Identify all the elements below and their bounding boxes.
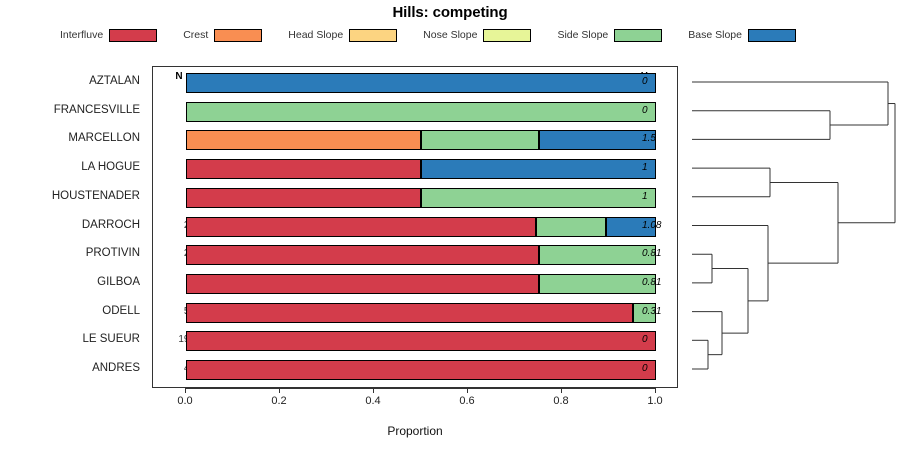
x-axis-tick	[185, 388, 186, 393]
x-axis: 0.00.20.40.60.81.0	[152, 388, 678, 418]
legend-spacer	[662, 35, 688, 36]
plot-panel: N H 301041.54121271.08240.8140.81550.311…	[152, 66, 678, 388]
bar-segment-interfluve	[186, 245, 539, 265]
x-axis-tick-label: 1.0	[635, 395, 675, 407]
bar-segment-base-slope	[539, 130, 657, 150]
legend-label: Head Slope	[288, 29, 343, 41]
row-h-value: 1.08	[642, 220, 676, 231]
row-h-value: 0	[642, 363, 676, 374]
legend-label: Crest	[183, 29, 208, 41]
chart-row: 21	[153, 184, 677, 213]
bar-segment-base-slope	[421, 159, 656, 179]
legend-item-base-slope: Base Slope	[688, 29, 796, 42]
y-axis-label-gilboa: GILBOA	[0, 276, 140, 288]
legend-spacer	[531, 35, 557, 36]
bar-segment-base-slope	[186, 73, 656, 93]
bar-segment-interfluve	[186, 331, 656, 351]
x-axis-title: Proportion	[152, 424, 678, 438]
y-axis-label-marcellon: MARCELLON	[0, 132, 140, 144]
stacked-bar	[186, 303, 656, 323]
row-h-value: 0	[642, 76, 676, 87]
y-axis-label-la-hogue: LA HOGUE	[0, 161, 140, 173]
legend-item-interfluve: Interfluve	[60, 29, 157, 42]
legend-item-head-slope: Head Slope	[288, 29, 397, 42]
x-axis-tick	[655, 388, 656, 393]
x-axis-tick-label: 0.8	[541, 395, 581, 407]
x-axis-tick-label: 0.4	[353, 395, 393, 407]
x-axis-tick	[373, 388, 374, 393]
x-axis-tick	[467, 388, 468, 393]
x-axis-tick-label: 0.0	[165, 395, 205, 407]
chart-row: 1910	[153, 327, 677, 356]
y-axis-labels: AZTALANFRANCESVILLEMARCELLONLA HOGUEHOUS…	[0, 66, 148, 388]
legend-swatch-icon	[614, 29, 662, 42]
chart-row: 240.81	[153, 241, 677, 270]
bar-segment-side-slope	[421, 130, 539, 150]
bar-segment-interfluve	[186, 360, 656, 380]
legend-label: Interfluve	[60, 29, 103, 41]
legend-swatch-icon	[214, 29, 262, 42]
stacked-bar	[186, 159, 656, 179]
dendrogram-svg	[690, 66, 900, 388]
stacked-bar	[186, 188, 656, 208]
x-axis-tick	[279, 388, 280, 393]
legend-swatch-icon	[748, 29, 796, 42]
bar-segment-side-slope	[186, 102, 656, 122]
y-axis-label-andres: ANDRES	[0, 362, 140, 374]
bar-segment-interfluve	[186, 303, 633, 323]
y-axis-label-aztalan: AZTALAN	[0, 75, 140, 87]
legend-spacer	[397, 35, 423, 36]
legend-item-side-slope: Side Slope	[557, 29, 662, 42]
chart-row: 460	[153, 356, 677, 385]
row-h-value: 1.5	[642, 133, 676, 144]
legend-label: Nose Slope	[423, 29, 477, 41]
legend-swatch-icon	[109, 29, 157, 42]
chart-legend: InterfluveCrestHead SlopeNose SlopeSide …	[60, 26, 840, 44]
y-axis-label-francesville: FRANCESVILLE	[0, 104, 140, 116]
y-axis-label-le-sueur: LE SUEUR	[0, 333, 140, 345]
chart-row: 10	[153, 98, 677, 127]
legend-spacer	[262, 35, 288, 36]
row-h-value: 1	[642, 191, 676, 202]
y-axis-label-darroch: DARROCH	[0, 219, 140, 231]
stacked-bar	[186, 130, 656, 150]
legend-swatch-icon	[483, 29, 531, 42]
stacked-bar	[186, 245, 656, 265]
y-axis-label-protivin: PROTIVIN	[0, 247, 140, 259]
stacked-bar	[186, 102, 656, 122]
x-axis-line	[185, 388, 655, 389]
legend-item-crest: Crest	[183, 29, 262, 42]
bar-segment-interfluve	[186, 188, 421, 208]
x-axis-tick	[561, 388, 562, 393]
x-axis-tick-label: 0.6	[447, 395, 487, 407]
stacked-bar	[186, 274, 656, 294]
y-axis-label-houstenader: HOUSTENADER	[0, 190, 140, 202]
y-axis-label-odell: ODELL	[0, 305, 140, 317]
chart-row: 271.08	[153, 213, 677, 242]
chart-row: 550.31	[153, 299, 677, 328]
chart-row: 41.5	[153, 126, 677, 155]
chart-root: Hills: competing InterfluveCrestHead Slo…	[0, 0, 900, 460]
chart-row: 40.81	[153, 270, 677, 299]
row-h-value: 1	[642, 162, 676, 173]
stacked-bar	[186, 360, 656, 380]
x-axis-tick-label: 0.2	[259, 395, 299, 407]
legend-label: Side Slope	[557, 29, 608, 41]
chart-row: 41	[153, 155, 677, 184]
bar-segment-side-slope	[539, 274, 657, 294]
stacked-bar	[186, 73, 656, 93]
row-h-value: 0	[642, 105, 676, 116]
legend-swatch-icon	[349, 29, 397, 42]
stacked-bar	[186, 331, 656, 351]
dendrogram	[690, 66, 900, 388]
bar-segment-interfluve	[186, 159, 421, 179]
bar-segment-interfluve	[186, 217, 536, 237]
bar-segment-side-slope	[421, 188, 656, 208]
legend-spacer	[157, 35, 183, 36]
row-h-value: 0	[642, 334, 676, 345]
legend-label: Base Slope	[688, 29, 742, 41]
bar-segment-interfluve	[186, 274, 539, 294]
row-h-value: 0.31	[642, 306, 676, 317]
bar-segment-crest	[186, 130, 421, 150]
chart-title: Hills: competing	[0, 4, 900, 21]
bar-segment-side-slope	[536, 217, 606, 237]
chart-row: 30	[153, 69, 677, 98]
bar-segment-side-slope	[539, 245, 657, 265]
row-h-value: 0.81	[642, 277, 676, 288]
row-h-value: 0.81	[642, 248, 676, 259]
stacked-bars-area: N H 301041.54121271.08240.8140.81550.311…	[153, 67, 677, 387]
legend-item-nose-slope: Nose Slope	[423, 29, 531, 42]
stacked-bar	[186, 217, 656, 237]
